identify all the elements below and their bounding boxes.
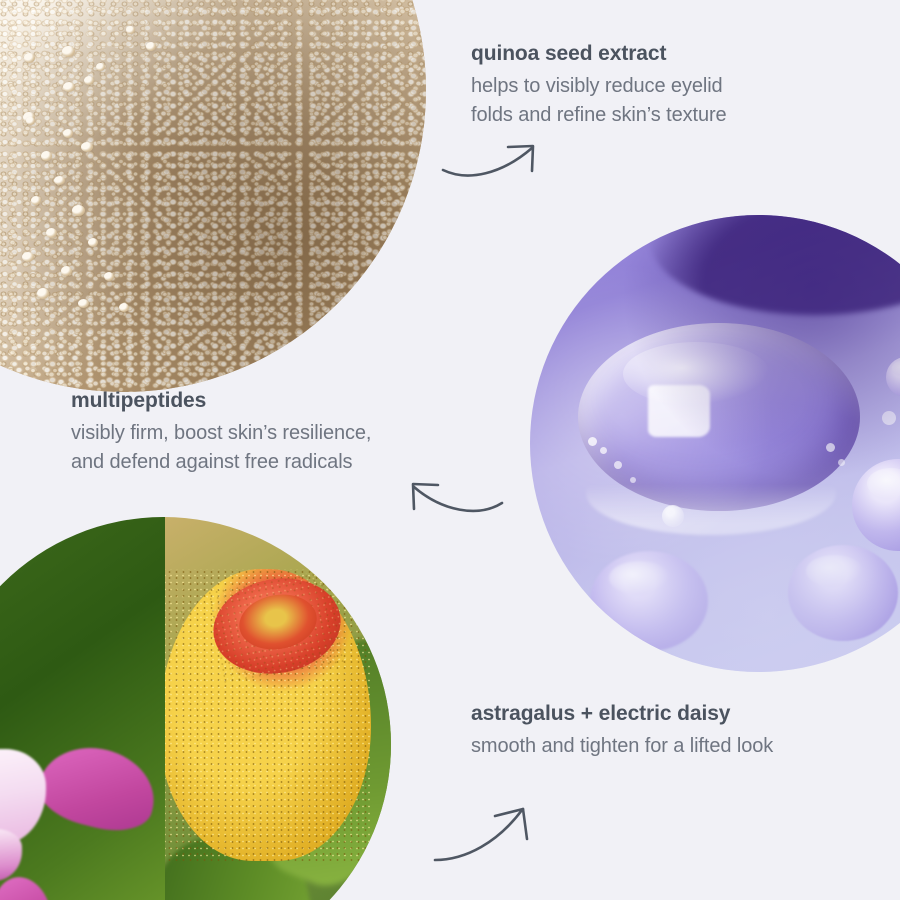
curved-arrow-up-right-icon xyxy=(440,140,550,200)
multipeptides-title: multipeptides xyxy=(71,388,471,413)
scatter-seed xyxy=(88,238,98,247)
curved-arrow-up-left-icon xyxy=(398,478,508,538)
scatter-seed xyxy=(72,205,85,216)
multipeptides-description: visibly firm, boost skin’s resilience, a… xyxy=(71,419,471,476)
astragalus-daisy-image xyxy=(0,517,391,900)
curved-arrow-up-right-long-icon xyxy=(432,802,542,872)
quinoa-title: quinoa seed extract xyxy=(471,41,831,66)
scatter-seed xyxy=(31,196,41,205)
astragalus-description: smooth and tighten for a lifted look xyxy=(471,732,871,760)
scatter-seed xyxy=(63,129,73,138)
infographic-canvas: quinoa seed extract helps to visibly red… xyxy=(0,0,900,900)
astragalus-blur-group xyxy=(0,517,165,900)
scatter-seed xyxy=(37,288,49,299)
bubbles-photo-base xyxy=(530,215,900,672)
scatter-seed xyxy=(104,272,114,281)
multipeptides-text-block: multipeptides visibly firm, boost skin’s… xyxy=(71,388,471,476)
serum-bubbles-image xyxy=(530,215,900,672)
scatter-seed xyxy=(63,82,75,92)
scatter-seed xyxy=(78,299,89,308)
quinoa-photo-base xyxy=(0,0,426,392)
quinoa-text-block: quinoa seed extract helps to visibly red… xyxy=(471,41,831,129)
scatter-seed xyxy=(146,42,156,51)
scatter-seed xyxy=(81,142,93,152)
scatter-seed xyxy=(84,76,94,85)
quinoa-description: helps to visibly reduce eyelid folds and… xyxy=(471,72,831,129)
astragalus-title: astragalus + electric daisy xyxy=(471,701,871,726)
quinoa-seed-image xyxy=(0,0,426,392)
astragalus-photo xyxy=(0,517,165,900)
scatter-seed xyxy=(22,252,34,262)
electric-daisy-photo xyxy=(165,517,391,900)
scatter-seed xyxy=(46,228,57,238)
scatter-seed xyxy=(61,266,72,276)
bubbles-shading xyxy=(530,215,900,672)
scatter-seed xyxy=(41,151,52,161)
scatter-seed xyxy=(62,46,75,57)
scatter-seed xyxy=(119,303,129,312)
quinoa-shading xyxy=(0,0,426,392)
scatter-seed xyxy=(126,26,135,34)
astragalus-text-block: astragalus + electric daisy smooth and t… xyxy=(471,701,871,761)
scatter-seed xyxy=(26,117,35,125)
scatter-seed xyxy=(96,63,105,71)
scatter-seed xyxy=(54,176,65,185)
scatter-seed xyxy=(24,53,35,63)
